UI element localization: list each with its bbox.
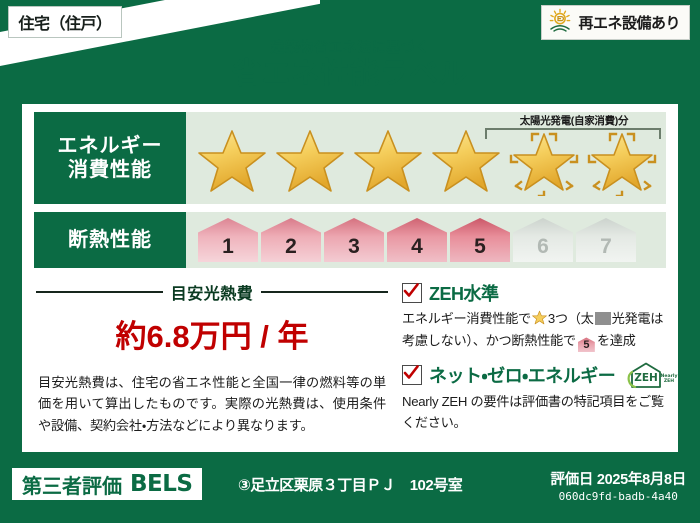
zeh-standard-checkbox[interactable] [402,283,422,303]
zeh-standard-body-pre: エネルギー消費性能で [402,311,531,326]
renewable-equipment-badge: 再エネ設備あり [541,5,690,40]
label-footer: 第三者評価 BELS ③足立区栗原３丁目ＰＪ 102号室 評価日 2025年8月… [0,460,700,523]
zeh-block: ZEH水準 エネルギー消費性能で3つ（太光発電は考慮しない）、かつ断熱性能で5を… [402,280,670,442]
insulation-level-6: 6 [513,218,573,262]
solar-generation-bracket [485,128,661,139]
inline-star-icon [532,313,547,328]
insulation-level-4-label: 4 [411,235,423,259]
insulation-level-6-label: 6 [537,235,549,259]
label-title-main: 省エネ性能ラベル [0,56,700,92]
insulation-level-3-label: 3 [348,235,360,259]
zeh-standard-body: エネルギー消費性能で3つ（太光発電は考慮しない）、かつ断熱性能で5を達成 [402,309,670,352]
svg-text:ZEH: ZEH [664,378,674,384]
house-type-tag: 住宅（住戸） [8,6,122,38]
insulation-level-7-label: 7 [600,235,612,259]
energy-performance-key-line1: エネルギー [58,134,163,158]
label-title-sub: 建築物省エネ法に基づく [0,40,700,55]
zeh-standard-body-mid: 3つ（太 [548,311,594,326]
bels-certification-box: 第三者評価 BELS [12,468,202,500]
insulation-performance-key: 断熱性能 [34,212,186,268]
net-zero-energy-head: ネット・ゼロ・エネルギー ZEH Nearly ZEH [402,361,670,389]
zeh-house-logo-icon: ZEH Nearly ZEH [626,361,680,389]
insulation-performance-row: 断熱性能 1 2 3 4 5 [34,212,666,268]
energy-performance-key: エネルギー 消費性能 [34,112,186,204]
energy-performance-value: 太陽光発電(自家消費)分 [186,112,666,204]
bels-third-party-label: 第三者評価 [22,470,122,499]
insulation-level-5: 5 [450,218,510,262]
heading-rule-right [261,291,388,293]
star-icon [272,124,348,198]
star-icon [350,124,426,198]
insulation-level-5-label: 5 [474,235,486,259]
insulation-performance-key-label: 断熱性能 [68,228,152,252]
net-zero-energy-checkbox[interactable] [402,365,422,385]
insulation-level-1: 1 [198,218,258,262]
inline-insulation-level-badge: 5 [578,337,595,352]
net-zero-energy-body: Nearly ZEH の要件は評価書の特記項目をご覧ください。 [402,392,670,433]
insulation-level-7: 7 [576,218,636,262]
net-zero-energy-item: ネット・ゼロ・エネルギー ZEH Nearly ZEH Nearly ZEH の… [402,361,670,433]
bels-logo-text: BELS [130,471,192,497]
zeh-standard-body-post: を達成 [597,333,636,348]
heading-rule-left [36,291,163,293]
evaluation-info: 評価日 2025年8月8日 060dc9fd-badb-4a40 [550,468,686,503]
solar-sun-icon [547,8,573,37]
svg-text:ZEH: ZEH [634,372,658,384]
zeh-standard-item: ZEH水準 エネルギー消費性能で3つ（太光発電は考慮しない）、かつ断熱性能で5を… [402,280,670,352]
insulation-level-2-label: 2 [285,235,297,259]
insulation-level-4: 4 [387,218,447,262]
redacted-character [595,312,611,325]
label-card: エネルギー 消費性能 太陽光発電(自家消費)分 [22,104,678,452]
estimated-utility-cost-value: 約6.8万円 / 年 [36,311,388,356]
energy-performance-label: 住宅（住戸） 再エネ設備あり 建築物省エネ法に [0,0,700,523]
insulation-level-3: 3 [324,218,384,262]
star-icon [194,124,270,198]
evaluation-date: 評価日 2025年8月8日 [550,468,686,489]
estimated-utility-cost-heading: 目安光熱費 [36,280,388,304]
label-title: 建築物省エネ法に基づく 省エネ性能ラベル [0,40,700,93]
insulation-level-1-label: 1 [222,235,234,259]
estimated-utility-cost-heading-label: 目安光熱費 [171,280,254,304]
energy-performance-key-line2: 消費性能 [68,158,152,182]
house-type-tag-label: 住宅（住戸） [18,10,111,34]
insulation-level-2: 2 [261,218,321,262]
estimated-utility-cost-note: 目安光熱費は、住宅の省エネ性能と全国一律の燃料等の単価を用いて算出したものです。… [36,372,388,436]
net-zero-energy-title: ネット・ゼロ・エネルギー [429,362,615,388]
renewable-equipment-badge-label: 再エネ設備あり [578,12,680,33]
zeh-standard-title: ZEH水準 [429,280,499,306]
insulation-level-scale: 1 2 3 4 5 6 [198,218,636,262]
solar-generation-note: 太陽光発電(自家消費)分 [484,113,664,128]
zeh-standard-head: ZEH水準 [402,280,670,306]
property-address: ③足立区栗原３丁目ＰＪ 102号室 [238,474,462,495]
evaluation-code: 060dc9fd-badb-4a40 [550,490,686,503]
estimated-utility-cost-block: 目安光熱費 約6.8万円 / 年 目安光熱費は、住宅の省エネ性能と全国一律の燃料… [36,280,388,436]
energy-performance-row: エネルギー 消費性能 太陽光発電(自家消費)分 [34,112,666,204]
insulation-performance-value: 1 2 3 4 5 6 [186,212,666,268]
